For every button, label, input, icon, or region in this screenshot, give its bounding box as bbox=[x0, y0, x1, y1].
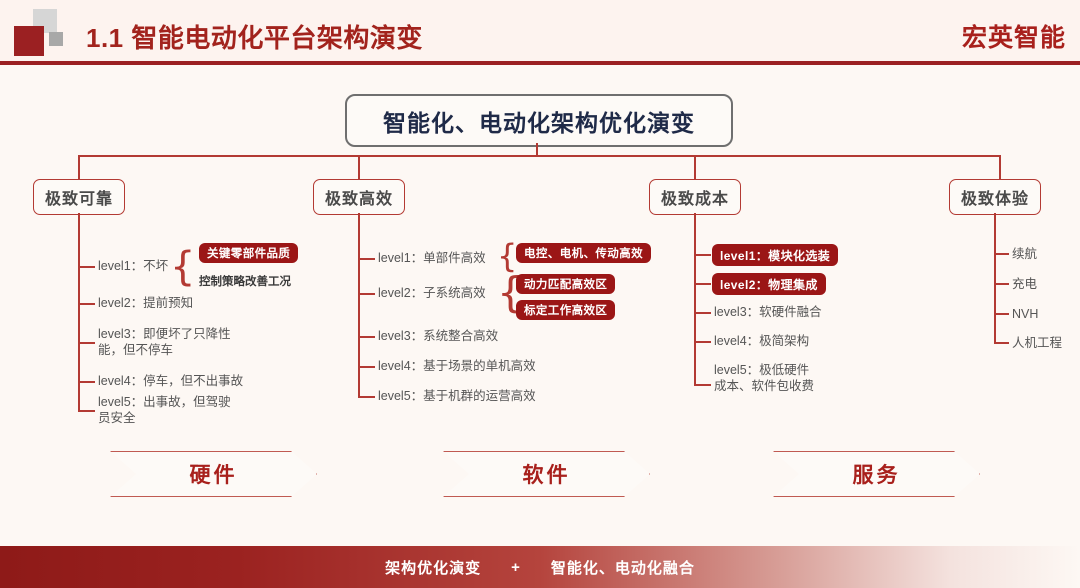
tick-c1-l5 bbox=[78, 410, 95, 412]
connector-branch-stem-3 bbox=[694, 213, 696, 257]
tick-c2-l3 bbox=[358, 336, 375, 338]
spine-col-2 bbox=[358, 256, 360, 397]
tick-c2-l1 bbox=[358, 258, 375, 260]
branch-box-cost[interactable]: 极致成本 bbox=[649, 179, 741, 215]
header-bar: 1.1 智能电动化平台架构演变 宏英智能 bbox=[0, 0, 1080, 62]
badge-c2-power-match-zone[interactable]: 动力匹配高效区 bbox=[516, 274, 615, 294]
level-item-c3-4: level4：极简架构 bbox=[714, 333, 809, 349]
connector-drop-1 bbox=[78, 155, 80, 179]
level-item-c1-4: level4：停车，但不出事故 bbox=[98, 373, 243, 389]
tick-c4-l3 bbox=[994, 313, 1009, 315]
level-item-c2-1: level1：单部件高效 bbox=[378, 250, 486, 266]
spine-col-3 bbox=[694, 254, 696, 384]
tick-c1-l2 bbox=[78, 303, 95, 305]
connector-branch-stem-4 bbox=[994, 213, 996, 255]
level-item-c2-4: level4：基于场景的单机高效 bbox=[378, 358, 536, 374]
page-title: 1.1 智能电动化平台架构演变 bbox=[86, 18, 423, 55]
decor-square-gray-icon bbox=[49, 32, 63, 46]
footer-label-left: 架构优化演变 bbox=[385, 557, 481, 578]
level-item-c4-2: 充电 bbox=[1012, 276, 1037, 292]
tick-c4-l4 bbox=[994, 342, 1009, 344]
chevron-hardware[interactable]: 硬件 bbox=[110, 451, 317, 497]
connector-drop-3 bbox=[694, 155, 696, 179]
level-item-c1-3: level3：即便坏了只降性 能，但不停车 bbox=[98, 326, 231, 358]
tick-c1-l1 bbox=[78, 266, 95, 268]
footer-bar: 架构优化演变 + 智能化、电动化融合 bbox=[0, 546, 1080, 588]
level-item-c4-3: NVH bbox=[1012, 306, 1038, 322]
tick-c2-l4 bbox=[358, 366, 375, 368]
tick-c3-l2 bbox=[694, 283, 711, 285]
brand-logo-text: 宏英智能 bbox=[962, 18, 1066, 54]
level-item-c4-4: 人机工程 bbox=[1012, 335, 1062, 351]
badge-c2-calibration-zone[interactable]: 标定工作高效区 bbox=[516, 300, 615, 320]
tick-c1-l4 bbox=[78, 381, 95, 383]
spine-col-4 bbox=[994, 253, 996, 343]
connector-branch-stem-1 bbox=[78, 213, 80, 261]
brace-c1-level1: { bbox=[170, 247, 195, 287]
connector-horizontal-bus bbox=[78, 155, 1000, 157]
tick-c4-l1 bbox=[994, 253, 1009, 255]
decor-square-red-icon bbox=[14, 26, 44, 56]
tick-c2-l5 bbox=[358, 396, 375, 398]
tick-c3-l1 bbox=[694, 254, 711, 256]
root-title-box: 智能化、电动化架构优化演变 bbox=[345, 94, 733, 147]
level-item-c1-5: level5：出事故，但驾驶 员安全 bbox=[98, 394, 231, 426]
tick-c3-l3 bbox=[694, 312, 711, 314]
level-item-c1-1: level1：不坏 bbox=[98, 258, 168, 274]
connector-branch-stem-2 bbox=[358, 213, 360, 257]
badge-c2-drive-efficiency[interactable]: 电控、电机、传动高效 bbox=[516, 243, 651, 263]
tick-c4-l2 bbox=[994, 283, 1009, 285]
branch-box-efficiency[interactable]: 极致高效 bbox=[313, 179, 405, 215]
footer-label-right: 智能化、电动化融合 bbox=[551, 557, 695, 578]
level-item-c1-2: level2：提前预知 bbox=[98, 295, 193, 311]
branch-box-experience[interactable]: 极致体验 bbox=[949, 179, 1041, 215]
tick-c1-l3 bbox=[78, 342, 95, 344]
badge-c3-level1-modular[interactable]: level1：模块化选装 bbox=[712, 244, 838, 266]
level-item-c4-1: 续航 bbox=[1012, 246, 1037, 262]
slide-root: 1.1 智能电动化平台架构演变 宏英智能 智能化、电动化架构优化演变 极致可靠 … bbox=[0, 0, 1080, 588]
connector-drop-2 bbox=[358, 155, 360, 179]
level-item-c3-3: level3：软硬件融合 bbox=[714, 304, 822, 320]
tick-c3-l5 bbox=[694, 384, 711, 386]
level-item-c3-5: level5：极低硬件 成本、软件包收费 bbox=[714, 362, 814, 394]
level-item-c2-3: level3：系统整合高效 bbox=[378, 328, 498, 344]
tick-c2-l2 bbox=[358, 293, 375, 295]
footer-content: 架构优化演变 + 智能化、电动化融合 bbox=[0, 546, 1080, 588]
chevron-service[interactable]: 服务 bbox=[773, 451, 980, 497]
badge-c1-key-parts[interactable]: 关键零部件品质 bbox=[199, 243, 298, 263]
header-divider bbox=[0, 61, 1080, 65]
level-item-c2-5: level5：基于机群的运营高效 bbox=[378, 388, 536, 404]
spine-col-1 bbox=[78, 260, 80, 410]
level-item-c2-2: level2：子系统高效 bbox=[378, 285, 486, 301]
connector-drop-4 bbox=[999, 155, 1001, 179]
footer-plus-sign: + bbox=[511, 559, 521, 576]
sublabel-c1-control-strategy: 控制策略改善工况 bbox=[199, 273, 291, 289]
badge-c3-level2-physical[interactable]: level2：物理集成 bbox=[712, 273, 826, 295]
branch-box-reliability[interactable]: 极致可靠 bbox=[33, 179, 125, 215]
chevron-software[interactable]: 软件 bbox=[443, 451, 650, 497]
tick-c3-l4 bbox=[694, 341, 711, 343]
